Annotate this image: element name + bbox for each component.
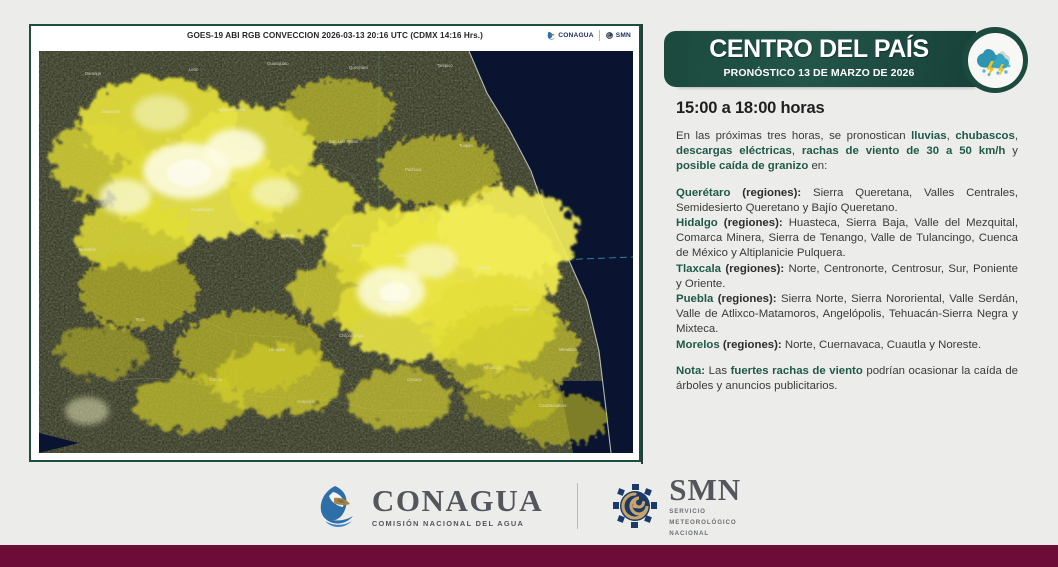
svg-text:San Luis Potosí: San Luis Potosí [329, 139, 359, 144]
svg-text:Durango: Durango [85, 71, 102, 76]
svg-text:León: León [189, 67, 199, 72]
note-highlight: fuertes rachas de viento [731, 365, 863, 377]
weather-icon-badge-inner [968, 33, 1023, 88]
state-label-morelos: (regiones): [723, 339, 782, 351]
state-label-hidalgo: (regiones): [724, 217, 783, 229]
state-entry-morelos: Morelos (regiones): Norte, Cuernavaca, C… [676, 338, 1018, 353]
forecast-note: Nota: Las fuertes rachas de viento podrí… [676, 364, 1018, 394]
state-name-hidalgo: Hidalgo [676, 217, 718, 229]
footer-logos: CONAGUA COMISIÓN NACIONAL DEL AGUA SMN S… [0, 470, 1058, 542]
header-conagua-text: CONAGUA [558, 32, 593, 39]
intro-hl-descargas: descargas eléctricas [676, 145, 792, 157]
svg-text:Guadalajara: Guadalajara [191, 207, 214, 212]
state-name-morelos: Morelos [676, 339, 720, 351]
footer-smn-sub-3: NACIONAL [669, 530, 741, 538]
forecast-intro-paragraph: En las próximas tres horas, se pronostic… [676, 129, 1018, 175]
footer-conagua-name: CONAGUA [372, 485, 543, 516]
footer-smn-sub-2: METEOROLÓGICO [669, 519, 741, 527]
intro-sep2: , [1015, 130, 1018, 142]
panel-divider [641, 24, 643, 464]
spacer-1 [676, 175, 1018, 186]
state-name-puebla: Puebla [676, 293, 713, 305]
header-logo-divider [599, 30, 600, 41]
smn-spiral-icon [605, 30, 614, 41]
forecast-date-subtitle: PRONÓSTICO 13 DE MARZO DE 2026 [676, 67, 962, 79]
svg-text:Guanajuato: Guanajuato [267, 61, 289, 66]
svg-text:Pachuca: Pachuca [405, 167, 422, 172]
note-lead: Las [705, 365, 730, 377]
intro-tail: en: [808, 160, 827, 172]
spacer-2 [676, 353, 1018, 364]
state-name-tlaxcala: Tlaxcala [676, 263, 721, 275]
map-header-logos: CONAGUA SMN [547, 30, 631, 41]
intro-hl-chubascos: chubascos [955, 130, 1015, 142]
intro-sep1: , [947, 130, 956, 142]
header-smn-text: SMN [616, 32, 631, 39]
region-title-banner: CENTRO DEL PAÍS PRONÓSTICO 13 DE MARZO D… [676, 31, 976, 87]
conagua-eagle-water-icon [317, 482, 361, 530]
footer-conagua-logo: CONAGUA COMISIÓN NACIONAL DEL AGUA [317, 482, 543, 530]
svg-text:Morelia: Morelia [281, 233, 295, 238]
footer-smn-name: SMN [669, 474, 741, 505]
svg-text:Coatzacoalcos: Coatzacoalcos [539, 403, 566, 408]
svg-text:Cuernavaca: Cuernavaca [379, 299, 402, 304]
intro-lead: En las próximas tres horas, se pronostic… [676, 130, 911, 142]
svg-text:Colima: Colima [209, 377, 223, 382]
header-conagua-logo: CONAGUA [547, 30, 593, 41]
svg-text:Uruapan: Uruapan [269, 347, 286, 352]
svg-text:Xalapa: Xalapa [477, 265, 491, 270]
svg-text:Tuxpan: Tuxpan [459, 143, 473, 148]
state-label-queretaro: (regiones): [742, 187, 801, 199]
svg-text:Tampico: Tampico [437, 63, 453, 68]
footer-divider [577, 483, 578, 529]
header-smn-logo: SMN [605, 30, 631, 41]
intro-sep3: , [792, 145, 802, 157]
svg-text:Puebla: Puebla [431, 273, 445, 278]
svg-text:Acapulco: Acapulco [297, 399, 315, 404]
satellite-image: Durango León Guanajuato Querétaro Tampic… [39, 51, 633, 453]
footer-smn-logo: SMN SERVICIO METEOROLÓGICO NACIONAL [612, 474, 741, 538]
forecast-time-range: 15:00 a 18:00 horas [676, 99, 824, 118]
forecast-body: En las próximas tres horas, se pronostic… [676, 129, 1018, 394]
svg-text:Oaxaca: Oaxaca [407, 377, 422, 382]
svg-text:Aguascalientes: Aguascalientes [217, 107, 245, 112]
intro-hl-lluvias: lluvias [911, 130, 946, 142]
svg-text:Mazatlán: Mazatlán [79, 247, 97, 252]
conagua-wave-icon [547, 30, 556, 41]
svg-text:Tehuacán: Tehuacán [483, 365, 502, 370]
svg-text:Zacatecas: Zacatecas [101, 109, 120, 114]
bottom-accent-bar [0, 545, 1058, 567]
map-header: GOES-19 ABI RGB CONVECCION 2026-03-13 20… [33, 28, 637, 50]
state-entry-hidalgo: Hidalgo (regiones): Huasteca, Sierra Baj… [676, 216, 1018, 262]
satellite-image-canvas: Durango León Guanajuato Querétaro Tampic… [39, 51, 633, 453]
satellite-map-panel: GOES-19 ABI RGB CONVECCION 2026-03-13 20… [29, 24, 641, 462]
intro-hl-rachas: rachas de viento de 30 a 50 km/h [802, 145, 1005, 157]
footer-conagua-sub: COMISIÓN NACIONAL DEL AGUA [372, 519, 543, 528]
footer-smn-sub-1: SERVICIO [669, 508, 741, 516]
smn-aztec-spiral-icon [612, 483, 658, 529]
note-label: Nota: [676, 365, 705, 377]
svg-text:Toluca: Toluca [351, 243, 364, 248]
footer-conagua-text: CONAGUA COMISIÓN NACIONAL DEL AGUA [372, 485, 543, 528]
state-entry-puebla: Puebla (regiones): Sierra Norte, Sierra … [676, 292, 1018, 338]
svg-text:Minatitlán: Minatitlán [559, 347, 578, 352]
page-title: CENTRO DEL PAÍS [676, 35, 962, 64]
state-label-puebla: (regiones): [718, 293, 777, 305]
weather-icon-badge [962, 27, 1028, 93]
state-entry-queretaro: Querétaro (regiones): Sierra Queretana, … [676, 186, 1018, 216]
footer-smn-text: SMN SERVICIO METEOROLÓGICO NACIONAL [669, 474, 741, 538]
state-regions-morelos: Norte, Cuernavaca, Cuautla y Noreste. [785, 339, 981, 351]
state-label-tlaxcala: (regiones): [725, 263, 784, 275]
state-entry-tlaxcala: Tlaxcala (regiones): Norte, Centronorte,… [676, 262, 1018, 292]
svg-text:Tepic: Tepic [135, 317, 145, 322]
svg-text:CDMX: CDMX [395, 253, 408, 258]
svg-text:Veracruz: Veracruz [513, 307, 530, 312]
state-name-queretaro: Querétaro [676, 187, 730, 199]
intro-hl-granizo: posible caída de granizo [676, 160, 808, 172]
intro-sep4: y [1005, 145, 1018, 157]
svg-text:Querétaro: Querétaro [349, 65, 369, 70]
thunderstorm-rain-icon [975, 42, 1015, 78]
svg-text:Chilpancingo: Chilpancingo [339, 333, 364, 338]
